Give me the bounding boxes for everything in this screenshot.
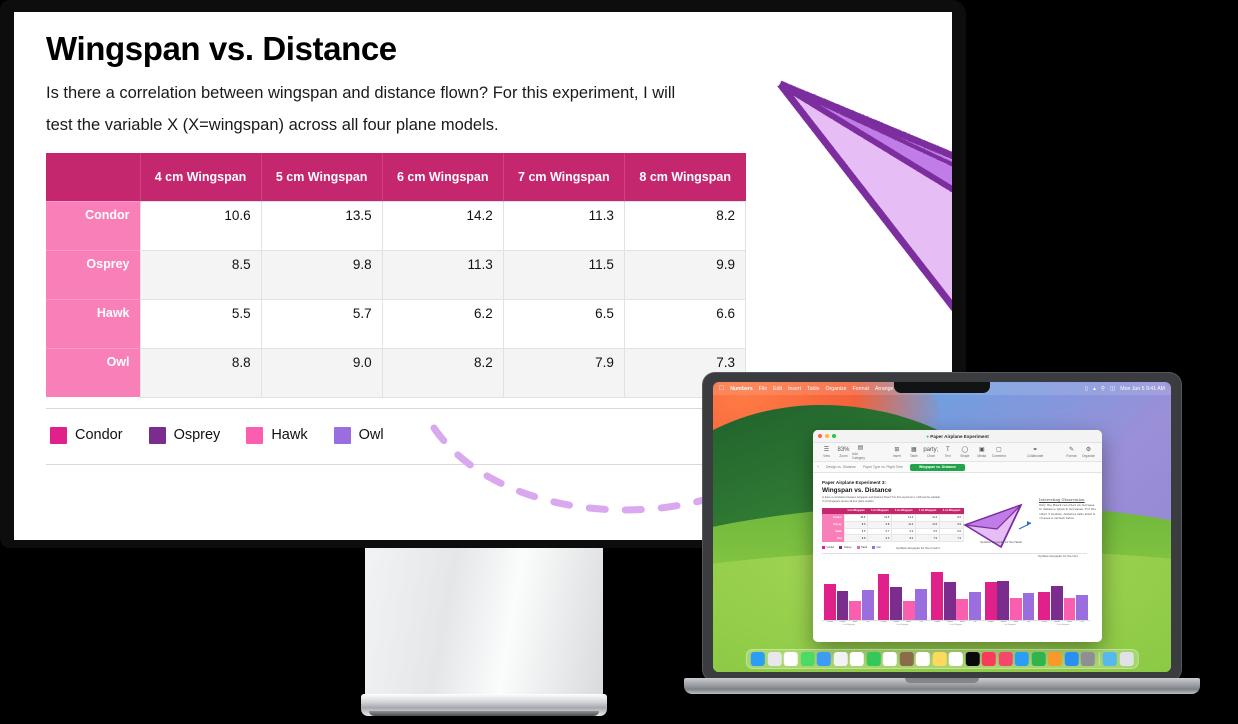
zoom-icon: 83% bbox=[837, 447, 849, 453]
toolbar-zoom-button[interactable]: 83% Zoom bbox=[835, 447, 852, 458]
chart-group-caption-wrap: CondorOspreyHawkOwl4 cm Wingspan bbox=[824, 621, 874, 626]
facetime-icon[interactable] bbox=[866, 652, 880, 666]
apple-logo-icon[interactable]:  bbox=[719, 385, 724, 392]
photos-icon[interactable] bbox=[850, 652, 864, 666]
doc-cell: 6.6 bbox=[940, 528, 964, 535]
media-icon: ▣ bbox=[979, 447, 985, 453]
sheet-tab-wingspan-vs-distance[interactable]: Wingspan vs. Distance bbox=[910, 464, 965, 471]
table-cell[interactable]: 13.5 bbox=[261, 201, 382, 250]
table-corner-cell bbox=[46, 153, 140, 201]
settings-icon[interactable] bbox=[1081, 652, 1095, 666]
doc-legend-label: Osprey bbox=[844, 546, 852, 549]
doc-cell: 8.2 bbox=[892, 535, 916, 542]
chart-bar[interactable] bbox=[944, 582, 956, 620]
chart-bar-label: Owl bbox=[915, 621, 927, 623]
toolbar-text-button[interactable]: T Text bbox=[939, 447, 956, 458]
doc-legend-swatch-hawk bbox=[857, 546, 860, 549]
chart-bar-label: Osprey bbox=[837, 621, 849, 623]
search-icon[interactable]: ⚲ bbox=[1101, 386, 1105, 392]
chart-bar-label: Condor bbox=[931, 621, 943, 623]
table-icon: ▦ bbox=[911, 447, 917, 453]
chart-group bbox=[878, 569, 928, 620]
format-icon: ✎ bbox=[1069, 447, 1074, 453]
chart-group-caption-wrap: CondorOspreyHawkOwl5 cm Wingspan bbox=[878, 621, 928, 626]
column-header[interactable]: 4 cm Wingspan bbox=[140, 153, 261, 201]
column-header[interactable]: 6 cm Wingspan bbox=[382, 153, 503, 201]
text-icon: T bbox=[946, 447, 950, 453]
laptop-lid:  Numbers File Edit Insert Table Organiz… bbox=[702, 372, 1182, 682]
table-cell[interactable]: 6.5 bbox=[503, 299, 624, 348]
toolbar-media-button[interactable]: ▣ Media bbox=[973, 447, 990, 458]
legend-swatch-hawk bbox=[246, 427, 263, 444]
toolbar-organize-button[interactable]: ⚙ Organize bbox=[1080, 447, 1097, 458]
display-stand-foot bbox=[361, 694, 607, 716]
doc-cell: 11.3 bbox=[892, 521, 916, 528]
doc-heading: Wingspan vs. Distance bbox=[822, 487, 1093, 494]
doc-column-header: 7 cm Wingspan bbox=[916, 508, 940, 515]
toolbar-shape-button[interactable]: ◯ Shape bbox=[956, 447, 973, 458]
reminders-icon[interactable] bbox=[916, 652, 930, 666]
table-cell[interactable]: 5.5 bbox=[140, 299, 261, 348]
sheet-tab-paper-type-vs-flight-time[interactable]: Paper Type vs. Flight Time bbox=[863, 465, 903, 469]
chart-bar[interactable] bbox=[997, 581, 1009, 620]
mail-icon[interactable] bbox=[817, 652, 831, 666]
menu-bar-status-area: ▯ ▴ ⚲ ◫ Mon Jun 5 9:41 AM bbox=[1085, 386, 1165, 392]
laptop-device:  Numbers File Edit Insert Table Organiz… bbox=[684, 372, 1200, 710]
chart-bar-label: Hawk bbox=[1064, 621, 1076, 623]
chart-bar-label: Condor bbox=[824, 621, 836, 623]
screenshot-stage: Wingspan vs. Distance Is there a correla… bbox=[0, 0, 1238, 724]
doc-cell: 6.5 bbox=[916, 528, 940, 535]
toolbar-label: View bbox=[823, 454, 830, 458]
chart-category-label: 5 cm Wingspan bbox=[878, 624, 928, 626]
legend-label: Owl bbox=[359, 427, 384, 443]
row-header-condor[interactable]: Condor bbox=[46, 201, 140, 250]
chart-bar-label: Osprey bbox=[997, 621, 1009, 623]
menu-item-table[interactable]: Table bbox=[807, 386, 819, 392]
chart-bar[interactable] bbox=[1023, 593, 1035, 620]
doc-legend-swatch-osprey bbox=[839, 546, 842, 549]
table-row[interactable]: Osprey 8.5 9.8 11.3 11.5 9.9 bbox=[46, 250, 746, 299]
organize-icon: ⚙ bbox=[1086, 447, 1091, 453]
dock-separator bbox=[1098, 652, 1099, 666]
chart-category-label: 7 cm Wingspan bbox=[985, 624, 1035, 626]
table-body: Condor 10.6 13.5 14.2 11.3 8.2 Osprey 8.… bbox=[46, 201, 746, 397]
comment-icon: ▢ bbox=[996, 447, 1002, 453]
numbers-toolbar[interactable]: ☰ View 83% Zoom ▤ Add Category bbox=[813, 443, 1102, 462]
toolbar-label: Chart bbox=[927, 454, 935, 458]
window-titlebar[interactable]: ● Paper Airplane Experiment bbox=[813, 430, 1102, 443]
page-title: Wingspan vs. Distance bbox=[46, 30, 952, 68]
doc-eyebrow: Paper Airplane Experiment 3: bbox=[822, 480, 1093, 485]
doc-cell: 6.2 bbox=[892, 528, 916, 535]
doc-column-header: 4 cm Wingspan bbox=[844, 508, 868, 515]
finder-icon[interactable] bbox=[751, 652, 765, 666]
doc-corner-cell bbox=[822, 508, 844, 515]
toolbar-label: Collaborate bbox=[1027, 454, 1043, 458]
display-stand-neck bbox=[365, 548, 603, 708]
column-header[interactable]: 8 cm Wingspan bbox=[624, 153, 745, 201]
doc-legend: Condor Osprey Hawk bbox=[822, 546, 1093, 549]
calendar-icon[interactable] bbox=[883, 652, 897, 666]
table-cell[interactable]: 6.6 bbox=[624, 299, 745, 348]
chart-bar-label: Owl bbox=[1023, 621, 1035, 623]
appstore-icon[interactable] bbox=[1064, 652, 1078, 666]
doc-cell: 8.8 bbox=[844, 535, 868, 542]
doc-cell: 7.3 bbox=[940, 535, 964, 542]
downloads-icon[interactable] bbox=[1103, 652, 1117, 666]
column-header[interactable]: 5 cm Wingspan bbox=[261, 153, 382, 201]
laptop-screen:  Numbers File Edit Insert Table Organiz… bbox=[713, 382, 1171, 672]
doc-paragraph: Is there a correlation between wingspan … bbox=[822, 496, 940, 504]
legend-label: Condor bbox=[75, 427, 123, 443]
insert-icon: ⊞ bbox=[894, 447, 899, 453]
table-cell[interactable]: 11.3 bbox=[503, 201, 624, 250]
chart-bar[interactable] bbox=[1051, 586, 1063, 620]
doc-legend-label: Hawk bbox=[861, 546, 867, 549]
wifi-icon[interactable]: ▴ bbox=[1093, 386, 1096, 392]
chart-bar[interactable] bbox=[878, 574, 890, 620]
freeform-icon[interactable] bbox=[949, 652, 963, 666]
chart-bar[interactable] bbox=[862, 590, 874, 620]
table-row[interactable]: Hawk 5.5 5.7 6.2 6.5 6.6 bbox=[46, 299, 746, 348]
sheet-tab-design-vs-distance[interactable]: Design vs. Distance bbox=[826, 465, 856, 469]
doc-cell: 5.5 bbox=[844, 528, 868, 535]
menu-bar-clock[interactable]: Mon Jun 5 9:41 AM bbox=[1120, 386, 1165, 392]
numbers-canvas[interactable]: Paper Airplane Experiment 3: Wingspan vs… bbox=[813, 473, 1102, 642]
collaborate-icon: ⚭ bbox=[1033, 447, 1038, 453]
chart-bar-label: Condor bbox=[985, 621, 997, 623]
doc-column-header: 6 cm Wingspan bbox=[892, 508, 916, 515]
chart-icon: party; bbox=[923, 447, 938, 453]
table-cell[interactable]: 10.6 bbox=[140, 201, 261, 250]
table-cell[interactable]: 5.7 bbox=[261, 299, 382, 348]
doc-data-table[interactable]: 4 cm Wingspan 5 cm Wingspan 6 cm Wingspa… bbox=[822, 508, 964, 542]
doc-cell: 8.2 bbox=[940, 514, 964, 521]
chart-category-label: 8 cm Wingspan bbox=[1038, 624, 1088, 626]
doc-paper-plane-illustration bbox=[961, 499, 1033, 553]
chart-bar[interactable] bbox=[890, 587, 902, 620]
chart-plot-area bbox=[822, 569, 1090, 621]
launchpad-icon[interactable] bbox=[767, 652, 781, 666]
doc-table-row: Osprey 8.5 9.8 11.3 11.5 9.9 bbox=[822, 521, 964, 528]
data-table[interactable]: 4 cm Wingspan 5 cm Wingspan 6 cm Wingspa… bbox=[46, 153, 746, 398]
laptop-base-notch bbox=[905, 678, 979, 683]
legend-item-condor[interactable]: Condor bbox=[50, 427, 123, 444]
doc-column-header: 8 cm Wingspan bbox=[940, 508, 964, 515]
chart-bar-label: Owl bbox=[969, 621, 981, 623]
legend-item-osprey[interactable]: Osprey bbox=[149, 427, 221, 444]
doc-table-row: Condor 10.6 13.5 14.2 11.3 8.2 bbox=[822, 514, 964, 521]
toolbar-format-button[interactable]: ✎ Format bbox=[1063, 447, 1080, 458]
tv-icon[interactable] bbox=[965, 652, 979, 666]
chart-bar[interactable] bbox=[985, 582, 997, 620]
doc-row-header: Condor bbox=[822, 514, 844, 521]
legend-label: Osprey bbox=[174, 427, 221, 443]
chart-annotation-owl: Optimal wingspan for the Owl bbox=[1038, 555, 1078, 558]
column-header[interactable]: 7 cm Wingspan bbox=[503, 153, 624, 201]
contacts-icon[interactable] bbox=[899, 652, 913, 666]
chart-bar-label: Osprey bbox=[1051, 621, 1063, 623]
doc-legend-swatch-condor bbox=[822, 546, 825, 549]
view-icon: ☰ bbox=[824, 447, 829, 453]
table-row[interactable]: Owl 8.8 9.0 8.2 7.9 7.3 bbox=[46, 348, 746, 397]
doc-cell: 14.2 bbox=[892, 514, 916, 521]
doc-legend-item-hawk: Hawk bbox=[857, 546, 867, 549]
doc-cell: 11.5 bbox=[916, 521, 940, 528]
chart-group bbox=[985, 569, 1035, 620]
menu-item-edit[interactable]: Edit bbox=[773, 386, 782, 392]
doc-legend-swatch-owl bbox=[872, 546, 875, 549]
legend-label: Hawk bbox=[271, 427, 307, 443]
doc-divider bbox=[822, 553, 1087, 554]
table-head: 4 cm Wingspan 5 cm Wingspan 6 cm Wingspa… bbox=[46, 153, 746, 201]
toolbar-view-button[interactable]: ☰ View bbox=[818, 447, 835, 458]
chart-bar[interactable] bbox=[969, 592, 981, 620]
trash-icon[interactable] bbox=[1119, 652, 1133, 666]
doc-column-header: 5 cm Wingspan bbox=[868, 508, 892, 515]
messages-icon[interactable] bbox=[800, 652, 814, 666]
doc-cell: 9.0 bbox=[868, 535, 892, 542]
toolbar-add-category-button[interactable]: ▤ Add Category bbox=[852, 445, 869, 460]
doc-cell: 10.6 bbox=[844, 514, 868, 521]
doc-table-head: 4 cm Wingspan 5 cm Wingspan 6 cm Wingspa… bbox=[822, 508, 964, 515]
control-center-icon[interactable]: ◫ bbox=[1110, 386, 1115, 392]
chart-bar-label: Hawk bbox=[849, 621, 861, 623]
table-header-row: 4 cm Wingspan 5 cm Wingspan 6 cm Wingspa… bbox=[46, 153, 746, 201]
macos-dock[interactable] bbox=[746, 649, 1139, 669]
doc-table-body: Condor 10.6 13.5 14.2 11.3 8.2 Osprey bbox=[822, 514, 964, 541]
window-title-text: Paper Airplane Experiment bbox=[930, 434, 989, 439]
doc-legend-item-osprey: Osprey bbox=[839, 546, 851, 549]
toolbar-label: Organize bbox=[1082, 454, 1095, 458]
row-header-owl[interactable]: Owl bbox=[46, 348, 140, 397]
table-cell[interactable]: 8.8 bbox=[140, 348, 261, 397]
notes-icon[interactable] bbox=[932, 652, 946, 666]
chart-bar[interactable] bbox=[1076, 595, 1088, 620]
doc-cell: 11.3 bbox=[916, 514, 940, 521]
paper-plane-illustration bbox=[766, 70, 952, 410]
row-header-osprey[interactable]: Osprey bbox=[46, 250, 140, 299]
doc-row-header: Hawk bbox=[822, 528, 844, 535]
legend-item-hawk[interactable]: Hawk bbox=[246, 427, 307, 444]
toolbar-insert-button[interactable]: ⊞ Insert bbox=[888, 447, 905, 458]
chart-bar[interactable] bbox=[824, 584, 836, 620]
table-cell[interactable]: 7.9 bbox=[503, 348, 624, 397]
table-cell[interactable]: 8.5 bbox=[140, 250, 261, 299]
doc-legend-item-condor: Condor bbox=[822, 546, 834, 549]
table-cell[interactable]: 6.2 bbox=[382, 299, 503, 348]
doc-cell: 8.5 bbox=[844, 521, 868, 528]
legend-item-owl[interactable]: Owl bbox=[334, 427, 384, 444]
toolbar-label: Table bbox=[910, 454, 918, 458]
unsaved-dot-icon: ● bbox=[926, 434, 929, 439]
row-header-hawk[interactable]: Hawk bbox=[46, 299, 140, 348]
table-cell[interactable]: 9.0 bbox=[261, 348, 382, 397]
chart-bar-label: Hawk bbox=[956, 621, 968, 623]
laptop-notch bbox=[894, 382, 990, 393]
chart-bar-label: Hawk bbox=[1010, 621, 1022, 623]
toolbar-label: Shape bbox=[960, 454, 969, 458]
numbers-icon[interactable] bbox=[1031, 652, 1045, 666]
doc-row-header: Osprey bbox=[822, 521, 844, 528]
window-title: ● Paper Airplane Experiment bbox=[813, 434, 1102, 439]
chart-bar-label: Osprey bbox=[890, 621, 902, 623]
toolbar-chart-button[interactable]: party; Chart bbox=[922, 447, 939, 458]
chart-group bbox=[824, 569, 874, 620]
chart-axis-captions: CondorOspreyHawkOwl4 cm WingspanCondorOs… bbox=[822, 621, 1090, 626]
menu-item-numbers[interactable]: Numbers bbox=[730, 386, 753, 392]
numbers-window[interactable]: ● Paper Airplane Experiment ☰ View 83% bbox=[813, 430, 1102, 642]
doc-header-row: 4 cm Wingspan 5 cm Wingspan 6 cm Wingspa… bbox=[822, 508, 964, 515]
chart-annotation-condor: Optimal wingspan for the Condor bbox=[896, 547, 940, 550]
menu-item-file[interactable]: File bbox=[759, 386, 767, 392]
add-sheet-icon[interactable]: + bbox=[817, 465, 819, 469]
chart-group bbox=[1038, 569, 1088, 620]
chart-group-caption-wrap: CondorOspreyHawkOwl8 cm Wingspan bbox=[1038, 621, 1088, 626]
chart-bar[interactable] bbox=[849, 601, 861, 620]
shape-icon: ◯ bbox=[961, 447, 968, 453]
doc-handwritten-note: Interesting Observation Only the Hawk re… bbox=[1039, 498, 1097, 546]
chart-bar-label: Hawk bbox=[903, 621, 915, 623]
keynote-icon[interactable] bbox=[1015, 652, 1029, 666]
menu-item-format[interactable]: Format bbox=[853, 386, 869, 392]
note-body: Only the Hawk recorded an increase in di… bbox=[1039, 503, 1097, 521]
menu-item-insert[interactable]: Insert bbox=[788, 386, 801, 392]
toolbar-comment-button[interactable]: ▢ Comment bbox=[990, 447, 1007, 458]
table-cell[interactable]: 8.2 bbox=[624, 201, 745, 250]
category-icon: ▤ bbox=[858, 445, 864, 451]
toolbar-label: Zoom bbox=[839, 454, 847, 458]
chart-bar[interactable] bbox=[837, 591, 849, 620]
toolbar-label: Add Category bbox=[852, 452, 869, 460]
toolbar-label: Format bbox=[1066, 454, 1076, 458]
table-cell[interactable]: 8.2 bbox=[382, 348, 503, 397]
menu-item-arrange[interactable]: Arrange bbox=[875, 386, 893, 392]
doc-cell: 9.9 bbox=[940, 521, 964, 528]
chart-bar-label: Owl bbox=[1076, 621, 1088, 623]
music-icon[interactable] bbox=[982, 652, 996, 666]
table-cell[interactable]: 14.2 bbox=[382, 201, 503, 250]
pages-icon[interactable] bbox=[1048, 652, 1062, 666]
doc-legend-label: Owl bbox=[877, 546, 881, 549]
battery-icon[interactable]: ▯ bbox=[1085, 386, 1088, 392]
menu-item-organize[interactable]: Organize bbox=[825, 386, 846, 392]
toolbar-table-button[interactable]: ▦ Table bbox=[905, 447, 922, 458]
slide-body-text: Is there a correlation between wingspan … bbox=[46, 78, 686, 141]
chart-bar-label: Osprey bbox=[944, 621, 956, 623]
doc-cell: 13.5 bbox=[868, 514, 892, 521]
toolbar-label: Insert bbox=[893, 454, 901, 458]
chart-annotation-hawk: Optimal wingspan for the Hawk bbox=[980, 541, 1022, 544]
chart-bar-label: Condor bbox=[1038, 621, 1050, 623]
chart-group-caption-wrap: CondorOspreyHawkOwl6 cm Wingspan bbox=[931, 621, 981, 626]
doc-table-row: Hawk 5.5 5.7 6.2 6.5 6.6 bbox=[822, 528, 964, 535]
chart-bar[interactable] bbox=[956, 599, 968, 620]
table-cell[interactable]: 11.5 bbox=[503, 250, 624, 299]
legend-swatch-osprey bbox=[149, 427, 166, 444]
legend-swatch-condor bbox=[50, 427, 67, 444]
legend-swatch-owl bbox=[334, 427, 351, 444]
chart-bar-label: Owl bbox=[862, 621, 874, 623]
doc-row-header: Owl bbox=[822, 535, 844, 542]
doc-cell: 5.7 bbox=[868, 528, 892, 535]
toolbar-label: Comment bbox=[992, 454, 1006, 458]
chart-bar[interactable] bbox=[1010, 598, 1022, 620]
doc-legend-label: Condor bbox=[827, 546, 835, 549]
macos-desktop:  Numbers File Edit Insert Table Organiz… bbox=[713, 382, 1171, 672]
table-cell[interactable]: 11.3 bbox=[382, 250, 503, 299]
maps-icon[interactable] bbox=[833, 652, 847, 666]
chart-group-caption-wrap: CondorOspreyHawkOwl7 cm Wingspan bbox=[985, 621, 1035, 626]
table-row[interactable]: Condor 10.6 13.5 14.2 11.3 8.2 bbox=[46, 201, 746, 250]
data-table-wrapper: 4 cm Wingspan 5 cm Wingspan 6 cm Wingspa… bbox=[46, 153, 746, 398]
note-title: Interesting Observation bbox=[1039, 498, 1097, 502]
chart-bar[interactable] bbox=[915, 589, 927, 620]
chart-bar[interactable] bbox=[1038, 592, 1050, 620]
chart-category-label: 4 cm Wingspan bbox=[824, 624, 874, 626]
doc-bar-chart[interactable]: CondorOspreyHawkOwl4 cm WingspanCondorOs… bbox=[822, 569, 1090, 633]
chart-bar[interactable] bbox=[931, 572, 943, 620]
chart-bar-label: Condor bbox=[878, 621, 890, 623]
doc-table-row: Owl 8.8 9.0 8.2 7.9 7.3 bbox=[822, 535, 964, 542]
chart-group bbox=[931, 569, 981, 620]
table-cell[interactable]: 9.9 bbox=[624, 250, 745, 299]
table-cell[interactable]: 9.8 bbox=[261, 250, 382, 299]
safari-icon[interactable] bbox=[784, 652, 798, 666]
divider-above-legend bbox=[46, 408, 746, 409]
toolbar-label: Text bbox=[945, 454, 951, 458]
doc-cell: 7.9 bbox=[916, 535, 940, 542]
chart-bar[interactable] bbox=[1064, 598, 1076, 620]
doc-cell: 9.8 bbox=[868, 521, 892, 528]
chart-bar[interactable] bbox=[903, 601, 915, 620]
chart-category-label: 6 cm Wingspan bbox=[931, 624, 981, 626]
sheet-tab-bar[interactable]: + Design vs. Distance Paper Type vs. Fli… bbox=[813, 462, 1102, 473]
doc-legend-item-owl: Owl bbox=[872, 546, 881, 549]
toolbar-label: Media bbox=[977, 454, 986, 458]
toolbar-collaborate-button[interactable]: ⚭ Collaborate bbox=[1027, 447, 1044, 458]
news-icon[interactable] bbox=[998, 652, 1012, 666]
